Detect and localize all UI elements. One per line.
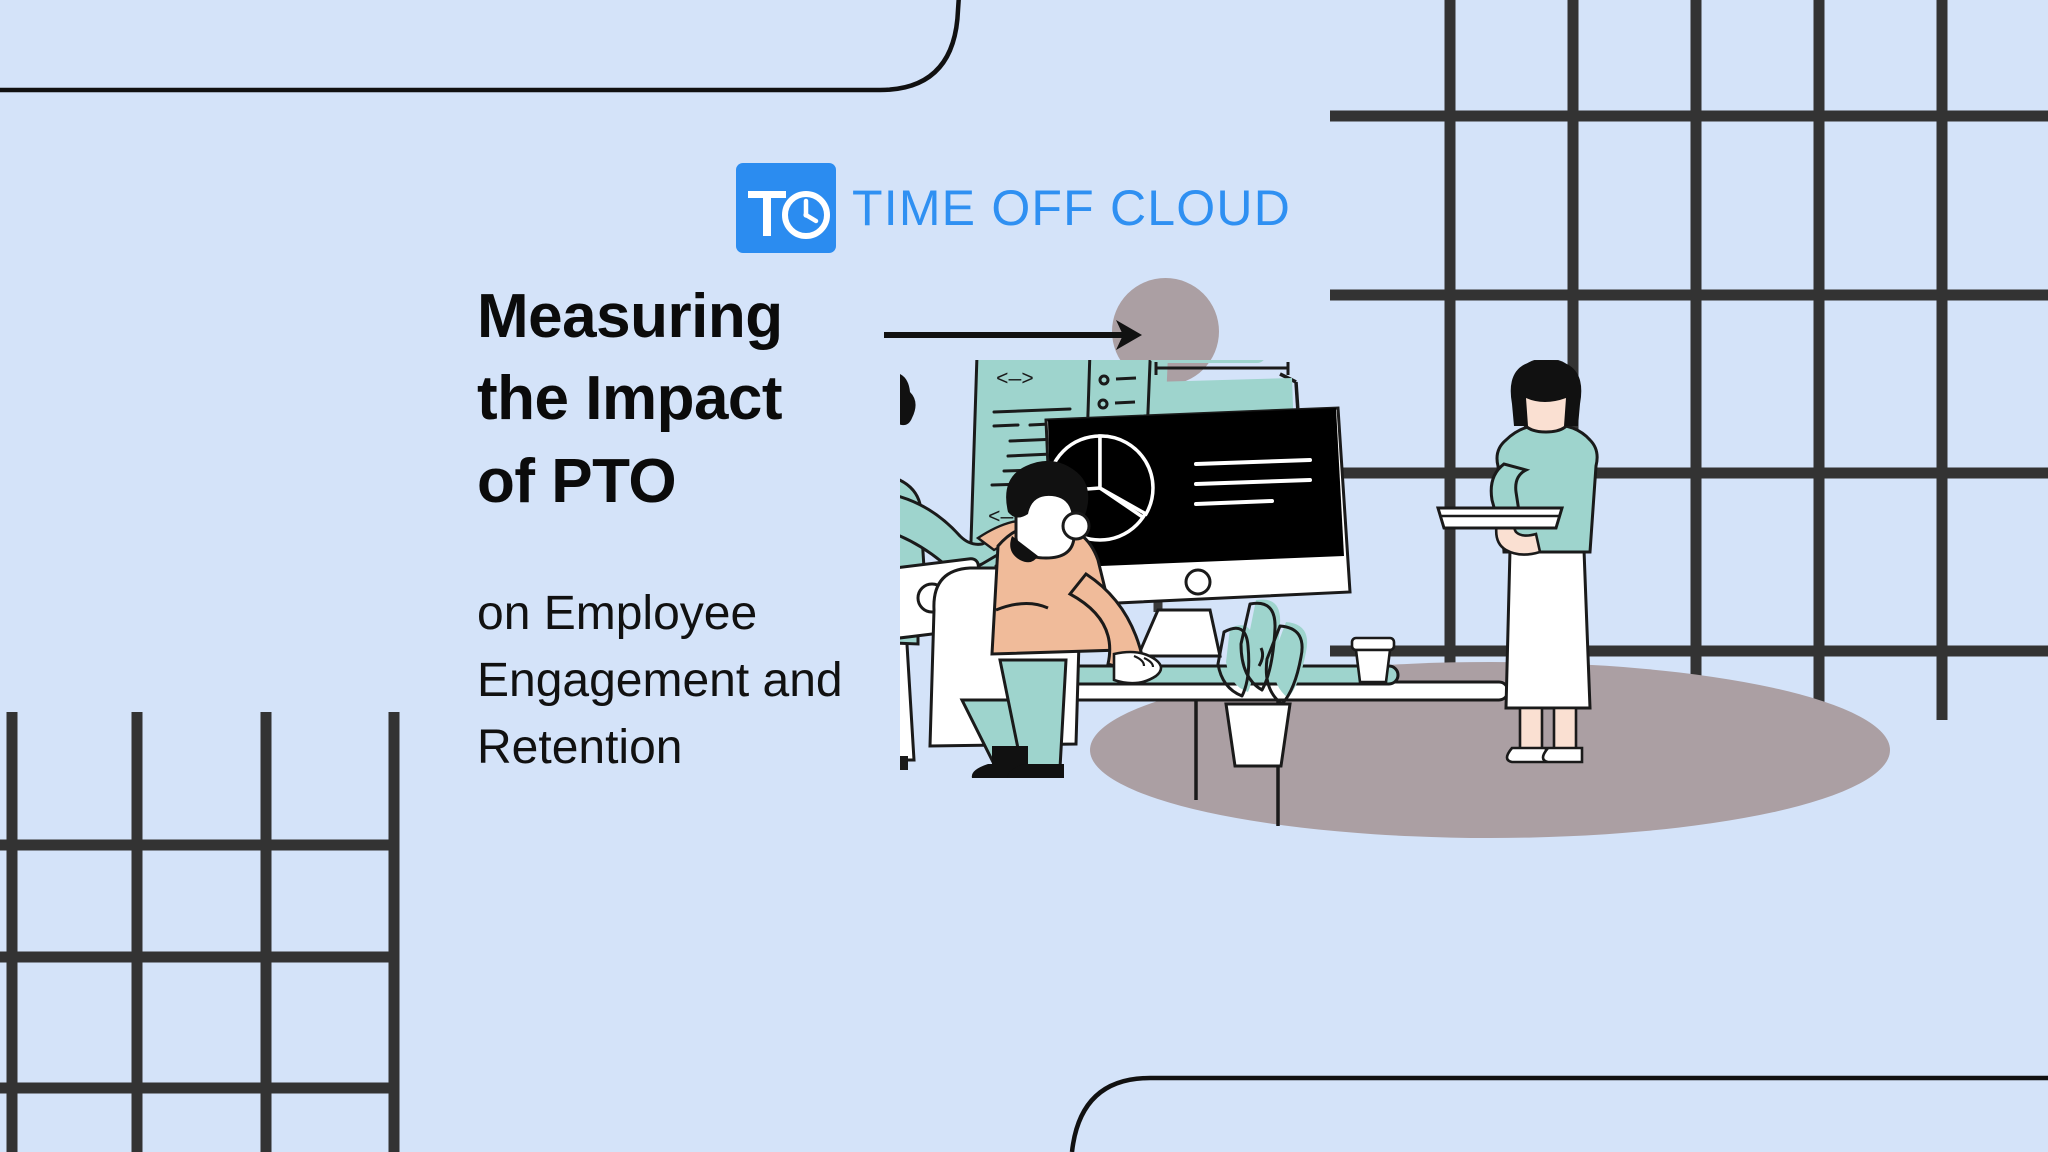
coffee-cup: [1352, 638, 1394, 682]
poster-canvas: TIME OFF CLOUD Measuring the Impact of P…: [0, 0, 2048, 1152]
hero-illustration: <—> <—/>: [900, 360, 2048, 1060]
logo-wordmark: TIME OFF CLOUD: [852, 183, 1291, 233]
task-card: [1142, 360, 1266, 363]
tray-icon: [1438, 508, 1562, 528]
logo-mark-glyphs: [736, 163, 836, 253]
svg-text:<—>: <—>: [996, 369, 1034, 392]
logo-mark: [736, 163, 836, 253]
brand-logo[interactable]: TIME OFF CLOUD: [736, 163, 1291, 253]
illustration-artwork: <—> <—/>: [900, 360, 2048, 1060]
